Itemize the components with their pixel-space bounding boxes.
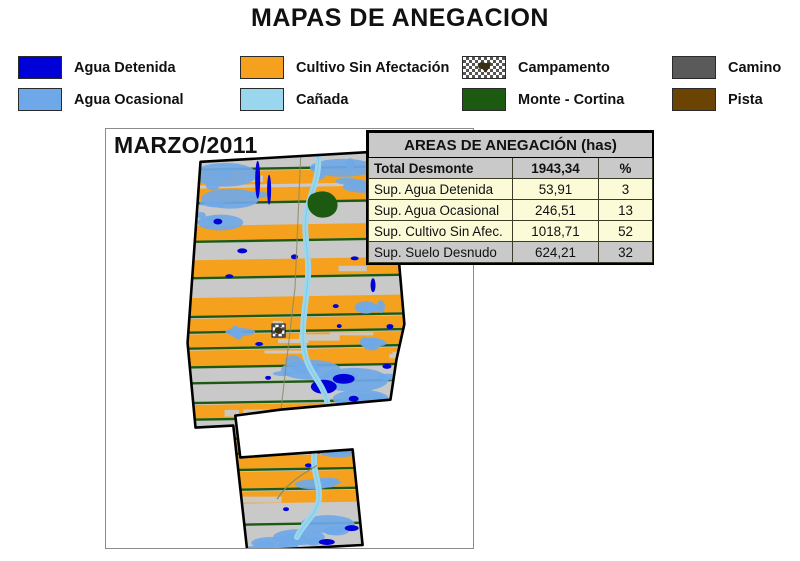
legend-swatch-icon xyxy=(240,56,284,79)
table-row: Sup. Agua Detenida53,913 xyxy=(369,179,653,200)
table-cell-nm: Sup. Agua Detenida xyxy=(369,179,513,200)
table-cell-pct: % xyxy=(599,158,653,179)
table-row: Sup. Agua Ocasional246,5113 xyxy=(369,200,653,221)
table-cell-pct: 52 xyxy=(599,221,653,242)
legend-item-label: Cañada xyxy=(296,92,348,108)
legend-item-agua-ocasional: Agua Ocasional xyxy=(18,88,184,111)
table-cell-nm: Sup. Suelo Desnudo xyxy=(369,242,513,263)
legend-swatch-icon xyxy=(672,88,716,111)
legend-item-cultivo-sin-afectaci-n: Cultivo Sin Afectación xyxy=(240,56,449,79)
campamento-pattern-icon xyxy=(462,56,506,79)
legend-item-monte-cortina: Monte - Cortina xyxy=(462,88,624,111)
legend-item-label: Camino xyxy=(728,60,781,76)
table-row: Sup. Suelo Desnudo624,2132 xyxy=(369,242,653,263)
table-title: AREAS DE ANEGACIÓN (has) xyxy=(369,133,653,158)
legend-swatch-icon xyxy=(18,88,62,111)
table-cell-nm: Sup. Cultivo Sin Afec. xyxy=(369,221,513,242)
table-cell-val: 1018,71 xyxy=(513,221,599,242)
table-cell-nm: Sup. Agua Ocasional xyxy=(369,200,513,221)
table-cell-pct: 32 xyxy=(599,242,653,263)
map-date-label: MARZO/2011 xyxy=(114,132,258,159)
legend-item-label: Agua Ocasional xyxy=(74,92,184,108)
legend-item-campamento: Campamento xyxy=(462,56,610,79)
legend-item-label: Pista xyxy=(728,92,763,108)
table-cell-val: 1943,34 xyxy=(513,158,599,179)
areas-table-container: AREAS DE ANEGACIÓN (has) Total Desmonte1… xyxy=(366,130,654,265)
legend-item-ca-ada: Cañada xyxy=(240,88,348,111)
legend-item-label: Agua Detenida xyxy=(74,60,176,76)
table-cell-nm: Total Desmonte xyxy=(369,158,513,179)
legend-swatch-icon xyxy=(240,88,284,111)
legend-swatch-icon xyxy=(462,88,506,111)
table-cell-pct: 13 xyxy=(599,200,653,221)
table-cell-pct: 3 xyxy=(599,179,653,200)
legend-item-label: Cultivo Sin Afectación xyxy=(296,60,449,76)
table-row-total: Total Desmonte1943,34% xyxy=(369,158,653,179)
campamento-blob-icon xyxy=(477,61,492,73)
table-cell-val: 246,51 xyxy=(513,200,599,221)
table-cell-val: 53,91 xyxy=(513,179,599,200)
legend-item-agua-detenida: Agua Detenida xyxy=(18,56,176,79)
legend: Agua DetenidaAgua OcasionalCultivo Sin A… xyxy=(0,52,800,116)
legend-swatch-icon xyxy=(672,56,716,79)
legend-item-label: Monte - Cortina xyxy=(518,92,624,108)
legend-item-camino: Camino xyxy=(672,56,781,79)
legend-swatch-icon xyxy=(18,56,62,79)
legend-item-pista: Pista xyxy=(672,88,763,111)
table-cell-val: 624,21 xyxy=(513,242,599,263)
legend-item-label: Campamento xyxy=(518,60,610,76)
areas-table: AREAS DE ANEGACIÓN (has) Total Desmonte1… xyxy=(368,132,653,263)
page-title: MAPAS DE ANEGACION xyxy=(0,4,800,33)
table-body: Total Desmonte1943,34%Sup. Agua Detenida… xyxy=(369,158,653,263)
table-row: Sup. Cultivo Sin Afec.1018,7152 xyxy=(369,221,653,242)
